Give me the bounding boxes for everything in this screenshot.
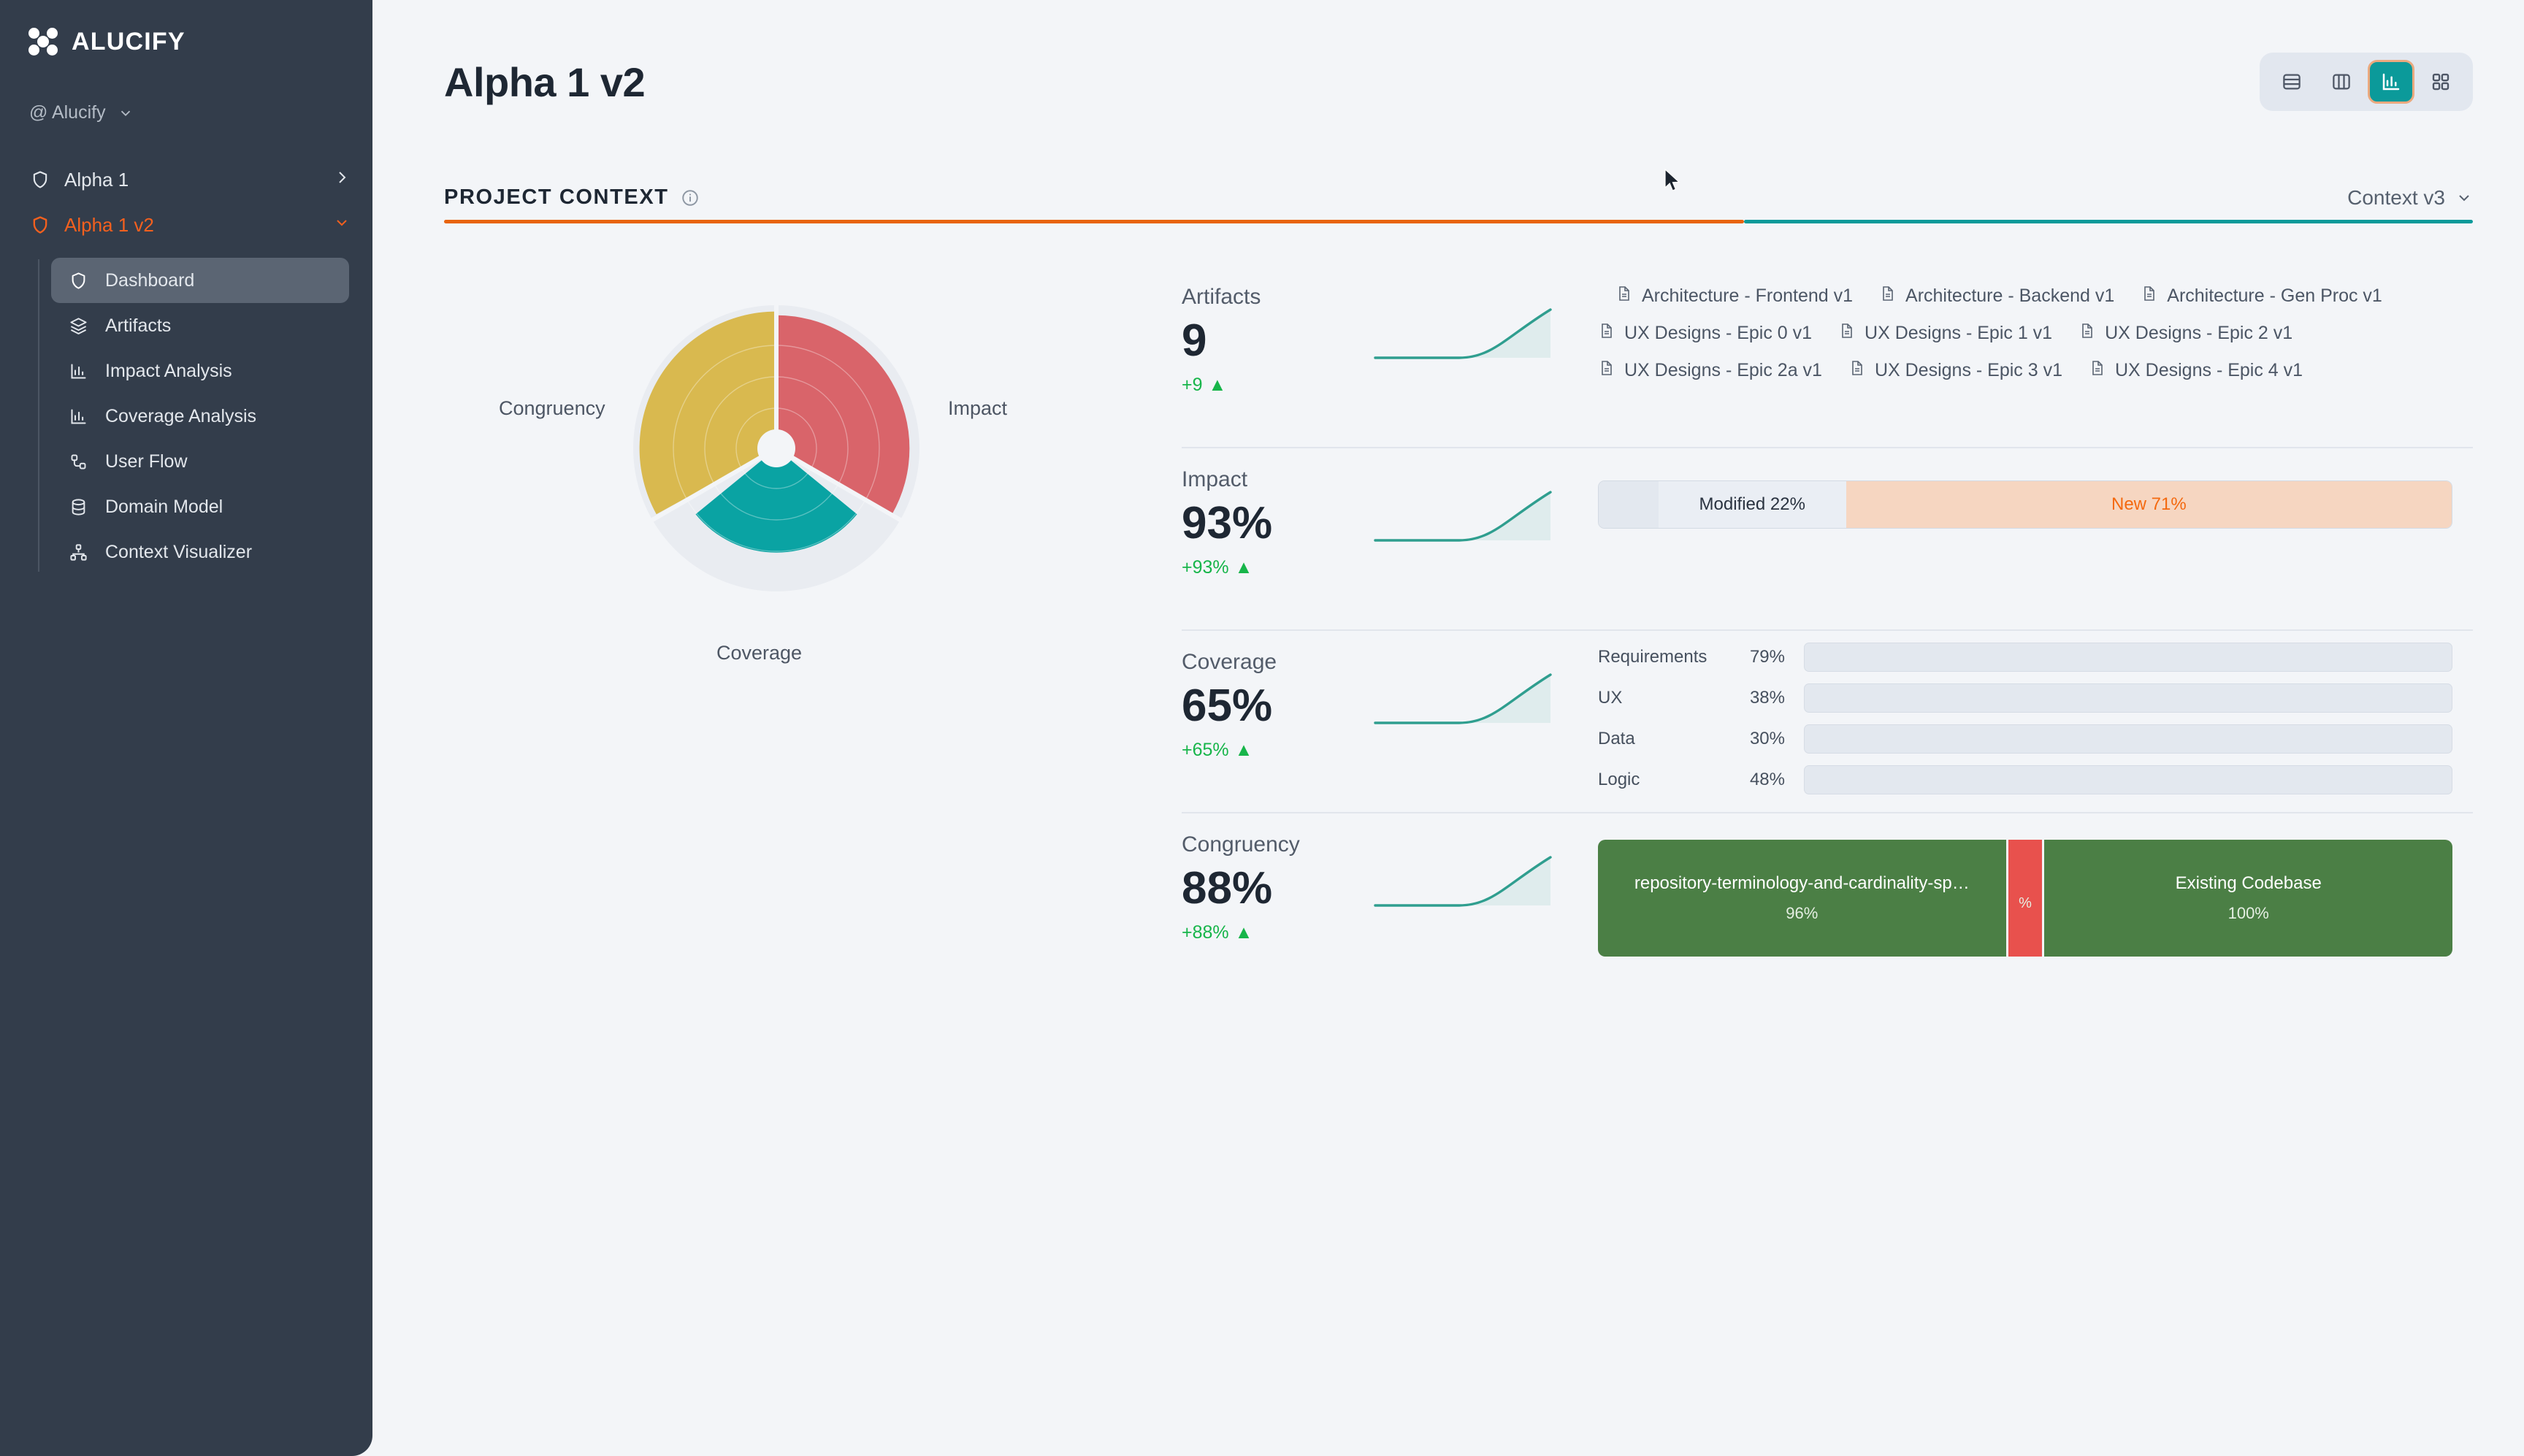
org-switcher[interactable]: @ Alucify — [0, 57, 372, 123]
sidebar-item-label: Artifacts — [105, 315, 171, 337]
metric-row-congruency: Congruency 88% +88% ▲ — [1182, 813, 2473, 996]
list-item[interactable]: UX Designs - Epic 2a v1 — [1598, 359, 1822, 382]
list-item[interactable]: UX Designs - Epic 1 v1 — [1838, 322, 2052, 345]
chevron-down-icon[interactable] — [333, 214, 351, 237]
list-item[interactable]: repository-terminology-and-cardinality-s… — [1598, 840, 2006, 957]
table-row: Requirements 79% — [1598, 637, 2473, 678]
stack-segment-label: Modified 22% — [1699, 494, 1805, 515]
table-row: Data 30% — [1598, 719, 2473, 759]
list-item[interactable]: UX Designs - Epic 0 v1 — [1598, 322, 1812, 345]
congruency-tiles: repository-terminology-and-cardinality-s… — [1598, 840, 2452, 957]
table-row: Logic 48% — [1598, 759, 2473, 800]
progress-track — [1804, 643, 2452, 672]
stack-segment-label: New 71% — [2111, 494, 2187, 515]
grid-view-icon[interactable] — [2417, 60, 2464, 104]
triangle-up-icon: ▲ — [1235, 557, 1253, 578]
metric-delta-value: +88% — [1182, 922, 1229, 943]
brand: ALUCIFY — [0, 0, 372, 57]
shield-icon — [28, 215, 53, 235]
metric-delta-value: +9 — [1182, 375, 1203, 396]
progress-track — [1804, 765, 2452, 794]
metric-delta: +93% ▲ — [1182, 557, 1656, 578]
tile-label: Existing Codebase — [2176, 873, 2322, 894]
sparkline-congruency — [1372, 813, 1554, 921]
list-item-label: UX Designs - Epic 3 v1 — [1875, 360, 2062, 381]
flow-nodes-icon — [66, 452, 91, 472]
progress-track — [1804, 724, 2452, 754]
columns-view-icon[interactable] — [2318, 60, 2365, 104]
project-label: Alpha 1 — [64, 169, 333, 191]
list-item[interactable]: % — [2008, 840, 2043, 957]
rose-chart-svg — [623, 295, 930, 602]
dashboard-body: Congruency Impact Coverage Artifacts 9 +… — [444, 266, 2473, 996]
sidebar-item-artifacts[interactable]: Artifacts — [51, 303, 349, 348]
sparkline-artifacts — [1372, 266, 1554, 373]
project-label: Alpha 1 v2 — [64, 214, 333, 237]
view-mode-toggle — [2260, 53, 2473, 111]
document-icon — [1598, 322, 1615, 345]
sparkline-impact — [1372, 448, 1554, 556]
sidebar-item-dashboard[interactable]: Dashboard — [51, 258, 349, 303]
page-header: Alpha 1 v2 — [444, 0, 2473, 111]
document-icon — [2141, 285, 2158, 307]
list-item[interactable]: Architecture - Frontend v1 — [1598, 285, 1853, 307]
list-item[interactable]: Architecture - Gen Proc v1 — [2141, 285, 2382, 307]
list-item[interactable]: UX Designs - Epic 4 v1 — [2089, 359, 2303, 382]
project-item-alpha-1[interactable]: Alpha 1 — [0, 157, 372, 202]
sidebar-item-label: User Flow — [105, 451, 188, 472]
metric-delta-value: +93% — [1182, 557, 1229, 578]
table-row: UX 38% — [1598, 678, 2473, 719]
document-icon — [1848, 359, 1866, 382]
rose-label-congruency: Congruency — [499, 397, 605, 420]
document-icon — [1598, 285, 1633, 307]
metric-rows: Artifacts 9 +9 ▲ — [1182, 266, 2473, 996]
triangle-up-icon: ▲ — [1235, 740, 1253, 761]
section-header: PROJECT CONTEXT Context v3 — [444, 185, 2473, 210]
list-item-label: Architecture - Backend v1 — [1905, 286, 2114, 307]
document-icon — [1598, 359, 1615, 382]
tile-label: repository-terminology-and-cardinality-s… — [1634, 873, 1970, 894]
chevron-down-icon — [2455, 189, 2473, 207]
brand-name: ALUCIFY — [72, 28, 186, 56]
stack-segment-modified[interactable]: Modified 22% — [1659, 481, 1846, 528]
list-item-label: Architecture - Gen Proc v1 — [2167, 286, 2382, 307]
layers-icon — [66, 316, 91, 336]
bar-chart-icon — [66, 407, 91, 426]
sidebar-item-context-visualizer[interactable]: Context Visualizer — [51, 529, 349, 575]
coverage-category: UX — [1598, 688, 1722, 708]
chevron-down-icon — [118, 105, 134, 121]
document-icon — [1879, 285, 1897, 307]
stack-segment-unlabeled[interactable] — [1599, 481, 1659, 528]
main-content: Alpha 1 v2 PROJECT CONTEXT — [372, 0, 2524, 1456]
sidebar-item-user-flow[interactable]: User Flow — [51, 439, 349, 484]
sparkline-coverage — [1372, 631, 1554, 738]
sidebar-item-label: Coverage Analysis — [105, 406, 256, 427]
shield-icon — [66, 271, 91, 291]
sidebar-item-domain-model[interactable]: Domain Model — [51, 484, 349, 529]
rows-view-icon[interactable] — [2268, 60, 2315, 104]
sidebar-item-coverage-analysis[interactable]: Coverage Analysis — [51, 394, 349, 439]
tile-value: 100% — [2228, 904, 2269, 923]
database-icon — [66, 497, 91, 517]
sidebar: ALUCIFY @ Alucify Alpha 1 — [0, 0, 372, 1456]
rose-label-coverage: Coverage — [716, 642, 802, 664]
project-subnav: Dashboard Artifacts Impact Analysis — [0, 258, 372, 575]
list-item-label: UX Designs - Epic 2a v1 — [1624, 360, 1822, 381]
section-divider — [444, 210, 2473, 223]
document-icon — [2079, 322, 2096, 345]
tile-value: 96% — [1786, 904, 1818, 923]
bar-chart-icon — [66, 361, 91, 381]
artifact-list: Architecture - Frontend v1 Architecture … — [1598, 285, 2456, 382]
list-item-label: Architecture - Frontend v1 — [1642, 286, 1853, 307]
triangle-up-icon: ▲ — [1209, 375, 1227, 396]
tile-value: % — [2019, 895, 2032, 912]
progress-track — [1804, 683, 2452, 713]
triangle-up-icon: ▲ — [1235, 922, 1253, 943]
coverage-value: 48% — [1722, 770, 1785, 790]
coverage-bars: Requirements 79% UX 38% Data — [1598, 637, 2473, 800]
sidebar-item-label: Context Visualizer — [105, 542, 252, 563]
page-title: Alpha 1 v2 — [444, 58, 645, 106]
list-item[interactable]: UX Designs - Epic 2 v1 — [2079, 322, 2292, 345]
section-divider-teal — [1744, 220, 2473, 223]
context-version-select[interactable]: Context v3 — [2347, 186, 2473, 210]
list-item[interactable]: Architecture - Backend v1 — [1879, 285, 2114, 307]
list-item-label: UX Designs - Epic 1 v1 — [1865, 323, 2052, 344]
metric-row-coverage: Coverage 65% +65% ▲ — [1182, 631, 2473, 813]
project-list: Alpha 1 Alpha 1 v2 D — [0, 157, 372, 575]
sidebar-item-impact-analysis[interactable]: Impact Analysis — [51, 348, 349, 394]
sidebar-item-label: Dashboard — [105, 270, 194, 291]
context-version-value: Context v3 — [2347, 186, 2445, 210]
shield-icon — [28, 169, 53, 190]
coverage-value: 30% — [1722, 729, 1785, 749]
list-item-label: UX Designs - Epic 4 v1 — [2115, 360, 2303, 381]
document-icon — [1838, 322, 1856, 345]
sidebar-item-label: Domain Model — [105, 497, 223, 518]
metric-row-impact: Impact 93% +93% ▲ — [1182, 448, 2473, 631]
coverage-value: 79% — [1722, 647, 1785, 667]
section-title: PROJECT CONTEXT — [444, 185, 669, 210]
coverage-value: 38% — [1722, 688, 1785, 708]
metric-delta-value: +65% — [1182, 740, 1229, 761]
four-dots-logo-icon — [28, 26, 58, 57]
coverage-category: Logic — [1598, 770, 1722, 790]
stack-segment-new[interactable]: New 71% — [1846, 481, 2452, 528]
context-rose-chart: Congruency Impact Coverage — [444, 266, 1182, 981]
chevron-right-icon[interactable] — [333, 169, 351, 191]
list-item-label: UX Designs - Epic 0 v1 — [1624, 323, 1812, 344]
project-item-alpha-1-v2[interactable]: Alpha 1 v2 — [0, 202, 372, 248]
coverage-category: Requirements — [1598, 647, 1722, 667]
document-icon — [2089, 359, 2106, 382]
coverage-category: Data — [1598, 729, 1722, 749]
rose-label-impact: Impact — [948, 397, 1007, 420]
impact-stacked-bar: Modified 22% New 71% — [1598, 480, 2452, 529]
chart-view-icon[interactable] — [2368, 60, 2414, 104]
list-item[interactable]: Existing Codebase 100% — [2044, 840, 2452, 957]
list-item[interactable]: UX Designs - Epic 3 v1 — [1848, 359, 2062, 382]
hierarchy-icon — [66, 543, 91, 562]
info-circle-icon[interactable] — [681, 188, 700, 207]
sidebar-item-label: Impact Analysis — [105, 361, 232, 382]
org-label: @ Alucify — [29, 102, 106, 123]
section-divider-orange — [444, 220, 1744, 223]
list-item-label: UX Designs - Epic 2 v1 — [2105, 323, 2292, 344]
metric-row-artifacts: Artifacts 9 +9 ▲ — [1182, 266, 2473, 448]
